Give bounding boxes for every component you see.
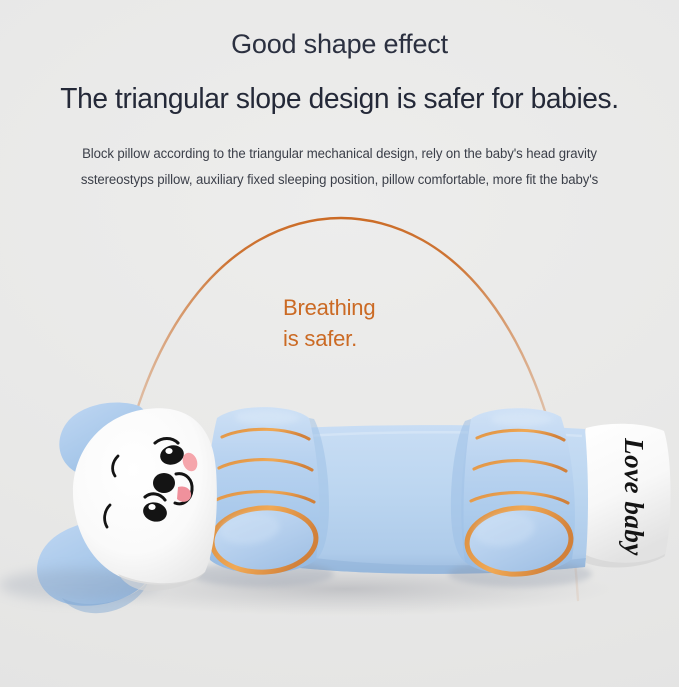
callout-breathing: Breathing is safer. — [283, 292, 375, 354]
page-title: The triangular slope design is safer for… — [10, 82, 669, 117]
product-feature-page: Good shape effect The triangular slope d… — [0, 0, 679, 687]
rabbit-head — [0, 408, 217, 601]
nose — [153, 473, 175, 493]
description-paragraph: Block pillow according to the triangular… — [5, 141, 674, 193]
end-pillow-white: Love baby — [580, 424, 671, 568]
callout-line-1: Breathing — [283, 292, 375, 323]
callout-line-2: is safer. — [283, 323, 375, 354]
text-block: Good shape effect The triangular slope d… — [0, 0, 679, 193]
description-line-1: Block pillow according to the triangular… — [5, 141, 674, 167]
eyebrow-heading: Good shape effect — [0, 28, 679, 60]
description-line-2: sstereostyps pillow, auxiliary fixed sle… — [5, 167, 674, 193]
embroidery-text: Love baby — [619, 437, 649, 556]
